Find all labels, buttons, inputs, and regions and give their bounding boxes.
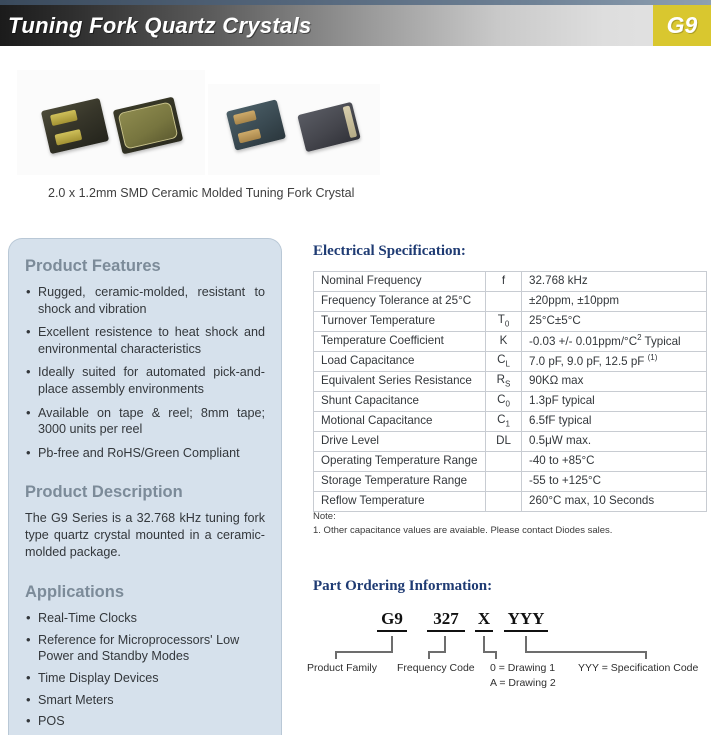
spec-parameter: Equivalent Series Resistance	[314, 372, 486, 392]
note-label: Note:	[313, 510, 612, 524]
series-badge: G9	[653, 5, 711, 46]
spec-symbol: C0	[486, 392, 522, 412]
order-code-drawing: X	[475, 609, 493, 632]
leader-line	[428, 651, 430, 659]
crystal-package-pads	[41, 98, 109, 154]
spec-parameter: Shunt Capacitance	[314, 392, 486, 412]
spec-value: 90KΩ max	[522, 372, 707, 392]
list-item: Rugged, ceramic-molded, resistant to sho…	[25, 284, 265, 317]
table-note: Note: 1. Other capacitance values are av…	[313, 510, 612, 538]
solder-pad	[54, 129, 82, 146]
spec-value: 6.5fF typical	[522, 412, 707, 432]
spec-symbol: RS	[486, 372, 522, 392]
left-info-panel: Product Features Rugged, ceramic-molded,…	[8, 238, 282, 735]
note-text: 1. Other capacitance values are avaiable…	[313, 524, 612, 538]
table-row: Shunt CapacitanceC01.3pF typical	[314, 392, 707, 412]
spec-parameter: Drive Level	[314, 432, 486, 452]
table-row: Load CapacitanceCL7.0 pF, 9.0 pF, 12.5 p…	[314, 352, 707, 372]
product-description-heading: Product Description	[25, 483, 265, 502]
solder-pad	[238, 128, 262, 143]
page-title: Tuning Fork Quartz Crystals	[8, 13, 312, 39]
product-photo-left	[17, 70, 205, 175]
leader-line	[495, 651, 497, 659]
spec-symbol: K	[486, 332, 522, 352]
table-row: Storage Temperature Range-55 to +125°C	[314, 472, 707, 492]
table-row: Reflow Temperature260°C max, 10 Seconds	[314, 492, 707, 512]
spec-value: 7.0 pF, 9.0 pF, 12.5 pF (1)	[522, 352, 707, 372]
leader-line	[428, 651, 446, 653]
order-label-frequency: Frequency Code	[397, 662, 475, 674]
spec-symbol: T0	[486, 312, 522, 332]
order-label-drawing-1: 0 = Drawing 1	[490, 662, 555, 674]
spec-symbol	[486, 472, 522, 492]
spec-parameter: Operating Temperature Range	[314, 452, 486, 472]
list-item: Real-Time Clocks	[25, 610, 265, 627]
list-item: Excellent resistence to heat shock and e…	[25, 324, 265, 357]
series-badge-label: G9	[667, 12, 698, 39]
spec-symbol	[486, 492, 522, 512]
solder-pad	[50, 110, 78, 127]
applications-list: Real-Time Clocks Reference for Microproc…	[25, 610, 265, 735]
order-code-frequency: 327	[427, 609, 465, 632]
order-label-family: Product Family	[307, 662, 377, 674]
table-row: Turnover TemperatureT025°C±5°C	[314, 312, 707, 332]
table-row: Nominal Frequencyf32.768 kHz	[314, 272, 707, 292]
order-code-spec: YYY	[504, 609, 548, 632]
leader-line	[645, 651, 647, 659]
list-item: Smart Meters	[25, 692, 265, 709]
order-label-drawing-2: A = Drawing 2	[490, 677, 556, 689]
spec-value: 32.768 kHz	[522, 272, 707, 292]
list-item: Ideally suited for automated pick-and-pl…	[25, 364, 265, 397]
spec-parameter: Temperature Coefficient	[314, 332, 486, 352]
crystal-package-lid	[113, 97, 184, 155]
part-ordering-heading: Part Ordering Information:	[313, 578, 492, 595]
spec-parameter: Storage Temperature Range	[314, 472, 486, 492]
list-item: POS	[25, 713, 265, 730]
leader-line	[525, 651, 647, 653]
crystal-package-side	[297, 102, 361, 152]
spec-value: 1.3pF typical	[522, 392, 707, 412]
spec-value: -0.03 +/- 0.01ppm/°C2 Typical	[522, 332, 707, 352]
order-label-spec: YYY = Specification Code	[578, 662, 698, 674]
spec-parameter: Load Capacitance	[314, 352, 486, 372]
spec-symbol: CL	[486, 352, 522, 372]
part-ordering-diagram: G9 327 X YYY Product Family Frequency Co…	[305, 600, 711, 700]
package-edge	[343, 105, 358, 138]
spec-value: -40 to +85°C	[522, 452, 707, 472]
product-features-list: Rugged, ceramic-molded, resistant to sho…	[25, 284, 265, 461]
leader-line	[335, 651, 393, 653]
metal-lid	[118, 101, 179, 149]
photo-caption: 2.0 x 1.2mm SMD Ceramic Molded Tuning Fo…	[48, 186, 354, 200]
spec-value: 260°C max, 10 Seconds	[522, 492, 707, 512]
spec-parameter: Nominal Frequency	[314, 272, 486, 292]
solder-pad	[233, 110, 257, 125]
electrical-specification-table: Nominal Frequencyf32.768 kHzFrequency To…	[313, 271, 707, 512]
table-row: Frequency Tolerance at 25°C±20ppm, ±10pp…	[314, 292, 707, 312]
order-code-family: G9	[377, 609, 407, 632]
table-row: Equivalent Series ResistanceRS90KΩ max	[314, 372, 707, 392]
list-item: Pb-free and RoHS/Green Compliant	[25, 445, 265, 462]
leader-line	[335, 651, 337, 659]
spec-symbol	[486, 292, 522, 312]
spec-parameter: Turnover Temperature	[314, 312, 486, 332]
spec-symbol: DL	[486, 432, 522, 452]
spec-parameter: Motional Capacitance	[314, 412, 486, 432]
spec-symbol: f	[486, 272, 522, 292]
spec-value: 0.5μW max.	[522, 432, 707, 452]
table-row: Motional CapacitanceC16.5fF typical	[314, 412, 707, 432]
product-features-heading: Product Features	[25, 257, 265, 276]
spec-value: ±20ppm, ±10ppm	[522, 292, 707, 312]
electrical-specification-heading: Electrical Specification:	[313, 243, 466, 260]
product-description-text: The G9 Series is a 32.768 kHz tuning for…	[25, 510, 265, 561]
spec-value: -55 to +125°C	[522, 472, 707, 492]
spec-symbol	[486, 452, 522, 472]
list-item: Time Display Devices	[25, 670, 265, 687]
table-row: Temperature CoefficientK-0.03 +/- 0.01pp…	[314, 332, 707, 352]
spec-symbol: C1	[486, 412, 522, 432]
spec-value: 25°C±5°C	[522, 312, 707, 332]
list-item: Available on tape & reel; 8mm tape; 3000…	[25, 405, 265, 438]
spec-parameter: Frequency Tolerance at 25°C	[314, 292, 486, 312]
product-photo-right	[208, 84, 380, 175]
table-row: Drive LevelDL0.5μW max.	[314, 432, 707, 452]
applications-heading: Applications	[25, 583, 265, 602]
crystal-package-pads-alt	[226, 99, 286, 150]
page-header-bar: Tuning Fork Quartz Crystals	[0, 5, 711, 46]
table-row: Operating Temperature Range-40 to +85°C	[314, 452, 707, 472]
spec-parameter: Reflow Temperature	[314, 492, 486, 512]
list-item: Reference for Microprocessors' Low Power…	[25, 632, 265, 665]
